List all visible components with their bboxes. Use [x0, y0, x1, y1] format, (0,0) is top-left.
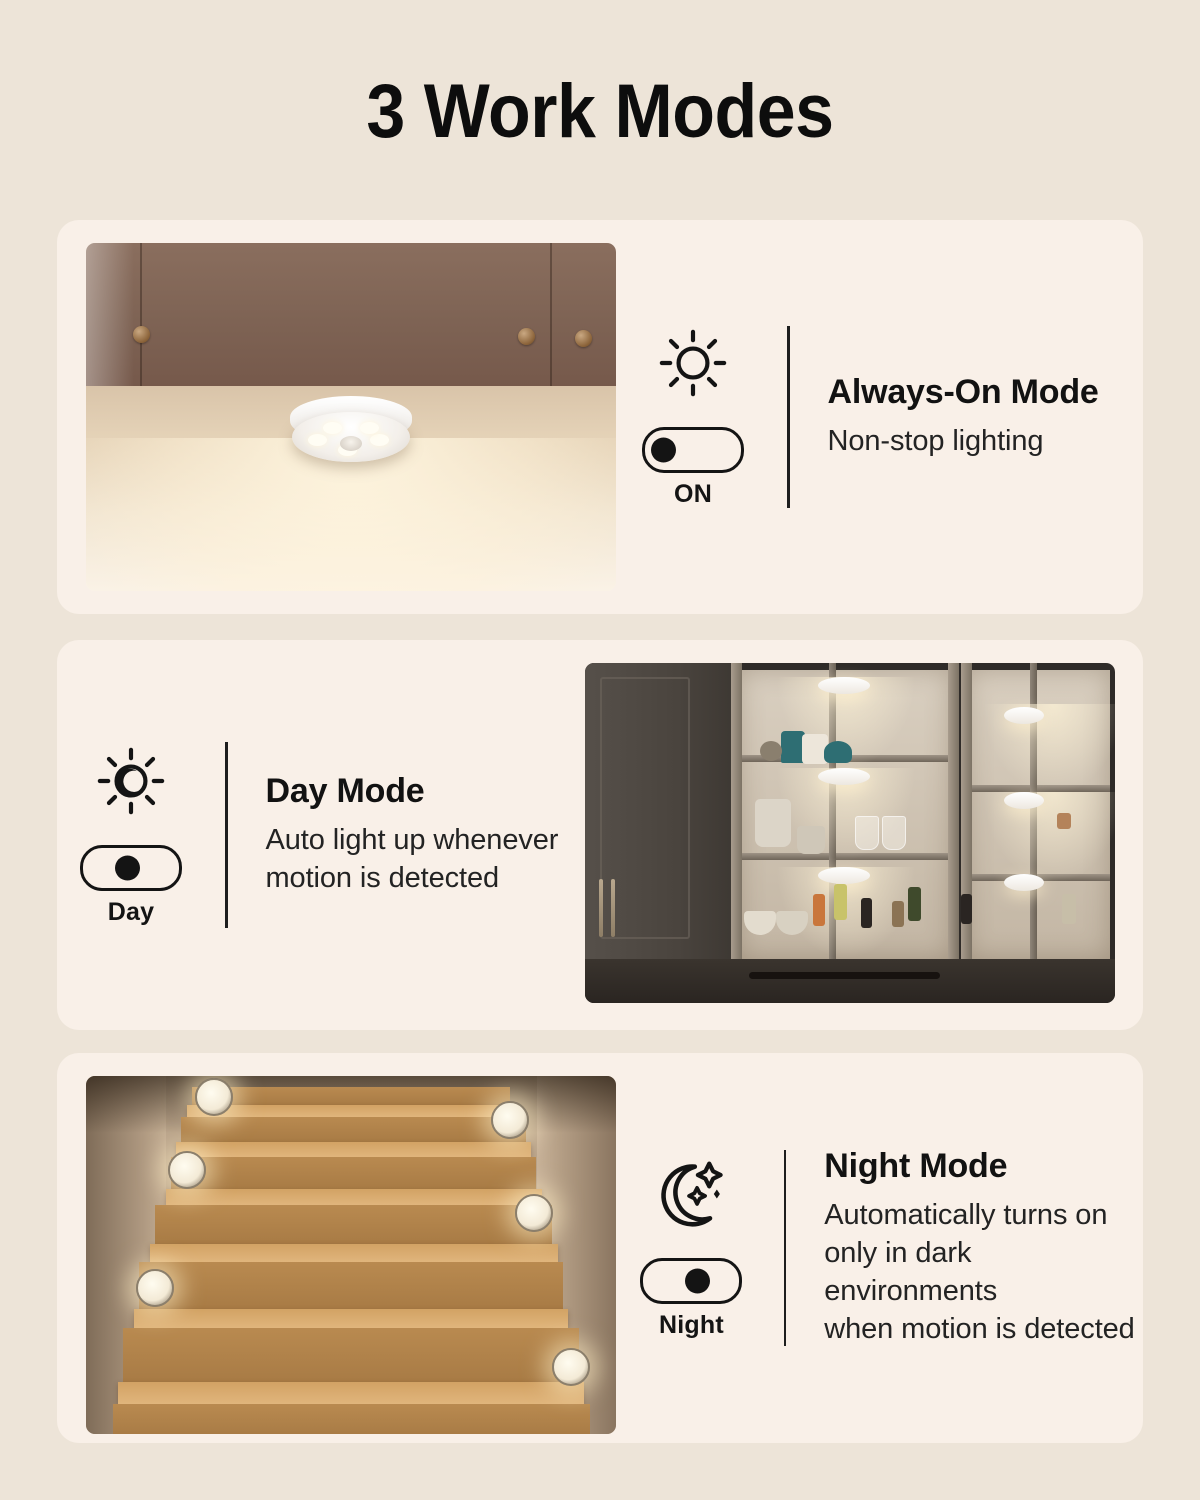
led-icon [360, 422, 379, 434]
stair-tread [166, 1189, 542, 1205]
vertical-divider [225, 742, 228, 928]
stair-riser [139, 1262, 563, 1309]
under-cabinet-puck-light-photo [86, 243, 616, 591]
bottle [834, 884, 847, 920]
toggle-knob[interactable] [651, 438, 676, 463]
cabinet-knob-icon [575, 330, 592, 347]
moon-stars-icon [653, 1156, 729, 1232]
stair-tread [118, 1382, 584, 1403]
bowl [760, 741, 782, 761]
mode-description-line-2: motion is detected [266, 860, 559, 898]
stair-tread [134, 1309, 569, 1329]
mode-info-day: Day Day Mode Auto light up whenever moti… [75, 640, 558, 1030]
countertop [585, 959, 1115, 1003]
puck-light [1004, 874, 1044, 891]
cabinet-knob-icon [133, 326, 150, 343]
mode-card-night: Night Night Mode Automatically turns on … [57, 1053, 1143, 1443]
bottle [961, 894, 972, 924]
mode-toggle-group[interactable]: Night [640, 1258, 742, 1340]
mode-title: Always-On Mode [828, 373, 1099, 411]
vertical-divider [784, 1150, 786, 1346]
stair-riser [123, 1328, 579, 1382]
puck-light [1004, 707, 1044, 724]
always-on-toggle[interactable] [642, 427, 744, 473]
jar [892, 901, 904, 927]
toggle-label: Night [659, 1311, 724, 1340]
mode-icon-column: ON [637, 325, 749, 509]
mode-icon-column: Night [637, 1156, 746, 1340]
puck-light [290, 396, 412, 470]
lit-glass-cabinet-photo [585, 663, 1115, 1003]
mode-card-day: Day Day Mode Auto light up whenever moti… [57, 640, 1143, 1030]
bottle [908, 887, 921, 921]
cabinet-handle [611, 879, 615, 937]
mode-description-line-3: when motion is detected [824, 1311, 1143, 1349]
led-icon [323, 422, 342, 434]
stair-riser [155, 1205, 553, 1244]
mode-description-line-2: only in dark environments [824, 1235, 1143, 1311]
toggle-label: ON [674, 480, 712, 509]
mode-description-line-1: Auto light up whenever [266, 822, 559, 860]
bottle [813, 894, 825, 926]
motion-sensor [340, 436, 362, 451]
under-cabinet-rail [749, 972, 940, 979]
light-spill [983, 704, 1116, 796]
glass [882, 816, 906, 850]
mode-card-always-on: ON Always-On Mode Non-stop lighting [57, 220, 1143, 614]
bowl [824, 741, 852, 763]
sun-moon-icon [93, 743, 169, 819]
stair-tread [150, 1244, 558, 1262]
mode-title: Day Mode [266, 772, 559, 810]
cabinet-frame [731, 663, 742, 1003]
cabinet-front [86, 243, 616, 386]
mode-description-line-1: Automatically turns on [824, 1197, 1143, 1235]
page-title: 3 Work Modes [48, 68, 1152, 155]
day-toggle[interactable] [80, 845, 182, 891]
mode-icon-column: Day [75, 743, 187, 927]
puck-light [1004, 792, 1044, 809]
bottle [861, 898, 872, 928]
pitcher [755, 799, 791, 847]
cabinet-knob-icon [518, 328, 535, 345]
cabinet-handle [599, 879, 603, 937]
led-icon [370, 434, 389, 446]
mode-title: Night Mode [824, 1147, 1143, 1185]
mode-toggle-group[interactable]: Day [80, 845, 182, 927]
stair-riser [171, 1157, 537, 1189]
cabinet-frame [948, 663, 959, 1003]
puck-light [195, 1078, 233, 1116]
led-icon [308, 434, 327, 446]
glass [855, 816, 879, 850]
sun-icon [655, 325, 731, 401]
toggle-knob[interactable] [115, 856, 140, 881]
stair-tread [187, 1105, 516, 1118]
stair-riser [192, 1087, 510, 1105]
toggle-knob[interactable] [685, 1269, 710, 1294]
mode-text-block: Night Mode Automatically turns on only i… [824, 1147, 1143, 1348]
mode-text-block: Day Mode Auto light up whenever motion i… [266, 772, 559, 897]
cabinet-frame [961, 663, 972, 1003]
mode-text-block: Always-On Mode Non-stop lighting [828, 373, 1099, 460]
stair-tread [176, 1142, 531, 1156]
jar [797, 826, 825, 854]
mode-toggle-group[interactable]: ON [642, 427, 744, 509]
jar [1057, 813, 1071, 829]
vertical-divider [787, 326, 790, 508]
stair-riser [113, 1404, 590, 1434]
light-spill [983, 792, 1116, 884]
night-toggle[interactable] [640, 1258, 742, 1304]
side-cabinet [585, 663, 739, 1003]
puck-light [818, 867, 870, 884]
jar [1062, 894, 1076, 924]
puck-light [818, 677, 870, 694]
mode-description: Non-stop lighting [828, 423, 1099, 461]
mode-info-always-on: ON Always-On Mode Non-stop lighting [637, 220, 1099, 614]
toggle-label: Day [108, 898, 154, 927]
lit-staircase-photo [86, 1076, 616, 1434]
mode-info-night: Night Night Mode Automatically turns on … [637, 1053, 1143, 1443]
stair-riser [181, 1117, 526, 1142]
